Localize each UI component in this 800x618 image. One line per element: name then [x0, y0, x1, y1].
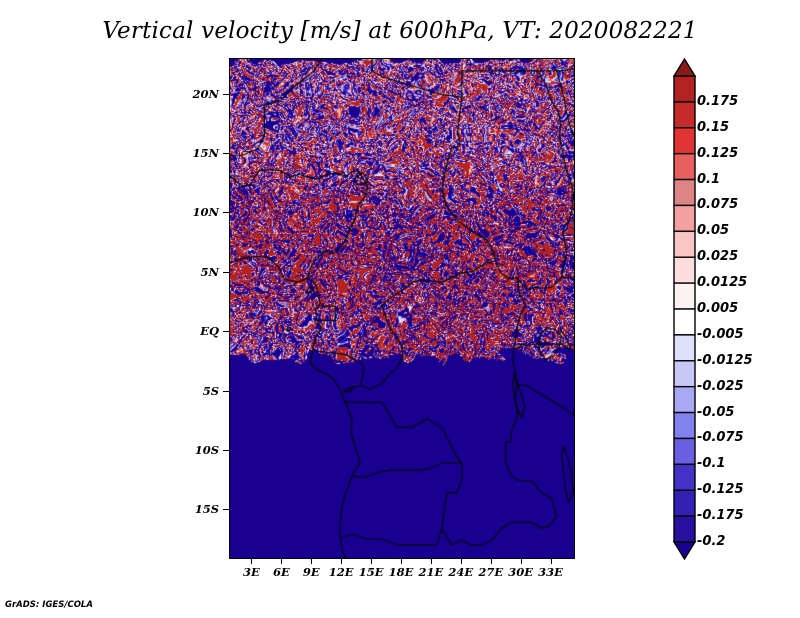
footer-credit: GrADS: IGES/COLA: [5, 600, 93, 610]
y-axis-label: 10S: [175, 443, 219, 457]
vertical-velocity-heatmap: [230, 59, 574, 558]
colorbar-tick-label: -0.1: [697, 457, 725, 470]
colorbar-band: [674, 257, 695, 283]
y-axis-tick: [223, 272, 229, 273]
colorbar-band: [674, 464, 695, 490]
x-axis-label: 3E: [234, 565, 268, 579]
colorbar-tick-label: -0.005: [697, 328, 744, 341]
x-axis-label: 6E: [264, 565, 298, 579]
x-axis-tick: [401, 558, 402, 564]
y-axis-tick: [223, 212, 229, 213]
colorbar-tick-label: 0.125: [697, 147, 738, 160]
x-axis-label: 24E: [444, 565, 478, 579]
y-axis-tick: [223, 153, 229, 154]
x-axis-tick: [251, 558, 252, 564]
x-axis-tick: [551, 558, 552, 564]
x-axis-label: 30E: [504, 565, 538, 579]
colorbar-tick-label: 0.1: [697, 173, 720, 186]
colorbar-band: [674, 516, 695, 542]
colorbar-band: [674, 361, 695, 387]
y-axis-label: 15N: [175, 146, 219, 160]
colorbar-tick-label: -0.025: [697, 380, 744, 393]
y-axis-tick: [223, 509, 229, 510]
colorbar-band: [674, 387, 695, 413]
colorbar-tick-label: -0.075: [697, 431, 744, 444]
colorbar-band: [674, 335, 695, 361]
colorbar-band: [674, 490, 695, 516]
x-axis-label: 9E: [294, 565, 328, 579]
x-axis-tick: [491, 558, 492, 564]
colorbar-tick-label: 0.075: [697, 198, 738, 211]
colorbar-tick-label: -0.2: [697, 535, 725, 548]
x-axis-label: 15E: [354, 565, 388, 579]
x-axis-label: 18E: [384, 565, 418, 579]
colorbar-band: [674, 231, 695, 257]
y-axis-tick: [223, 450, 229, 451]
x-axis-tick: [371, 558, 372, 564]
x-axis-tick: [461, 558, 462, 564]
colorbar-band: [674, 205, 695, 231]
colorbar-band: [674, 309, 695, 335]
x-axis-tick: [341, 558, 342, 564]
y-axis-tick: [223, 331, 229, 332]
y-axis-tick: [223, 391, 229, 392]
colorbar-tick-label: -0.175: [697, 509, 744, 522]
colorbar-band: [674, 154, 695, 180]
x-axis-label: 21E: [414, 565, 448, 579]
y-axis-label: 5N: [175, 265, 219, 279]
y-axis-label: 5S: [175, 384, 219, 398]
colorbar-tick-label: 0.0125: [697, 276, 747, 289]
colorbar-tick-label: 0.025: [697, 250, 738, 263]
y-axis-label: 10N: [175, 205, 219, 219]
colorbar-tick-label: 0.05: [697, 224, 729, 237]
colorbar-tick-label: -0.05: [697, 406, 734, 419]
y-axis-tick: [223, 94, 229, 95]
colorbar-band: [674, 283, 695, 309]
x-axis-label: 12E: [324, 565, 358, 579]
map-plot-area: [229, 58, 575, 559]
colorbar-band: [674, 180, 695, 206]
x-axis-tick: [311, 558, 312, 564]
y-axis-label: 20N: [175, 87, 219, 101]
y-axis-label: 15S: [175, 502, 219, 516]
colorbar-tick-label: -0.125: [697, 483, 744, 496]
x-axis-tick: [431, 558, 432, 564]
colorbar-tick-label: -0.0125: [697, 354, 753, 367]
x-axis-tick: [521, 558, 522, 564]
colorbar-band: [674, 76, 695, 102]
x-axis-tick: [281, 558, 282, 564]
colorbar-tick-label: 0.175: [697, 95, 738, 108]
colorbar-bottom-arrow: [674, 542, 695, 559]
colorbar-band: [674, 413, 695, 439]
colorbar-top-arrow: [674, 59, 695, 76]
colorbar-band: [674, 102, 695, 128]
colorbar-tick-label: 0.15: [697, 121, 729, 134]
colorbar-tick-label: 0.005: [697, 302, 738, 315]
y-axis-label: EQ: [175, 324, 219, 338]
colorbar-band: [674, 128, 695, 154]
colorbar-band: [674, 438, 695, 464]
grads-figure: Vertical velocity [m/s] at 600hPa, VT: 2…: [0, 0, 800, 618]
x-axis-label: 27E: [474, 565, 508, 579]
x-axis-label: 33E: [534, 565, 568, 579]
page-title: Vertical velocity [m/s] at 600hPa, VT: 2…: [0, 18, 800, 44]
